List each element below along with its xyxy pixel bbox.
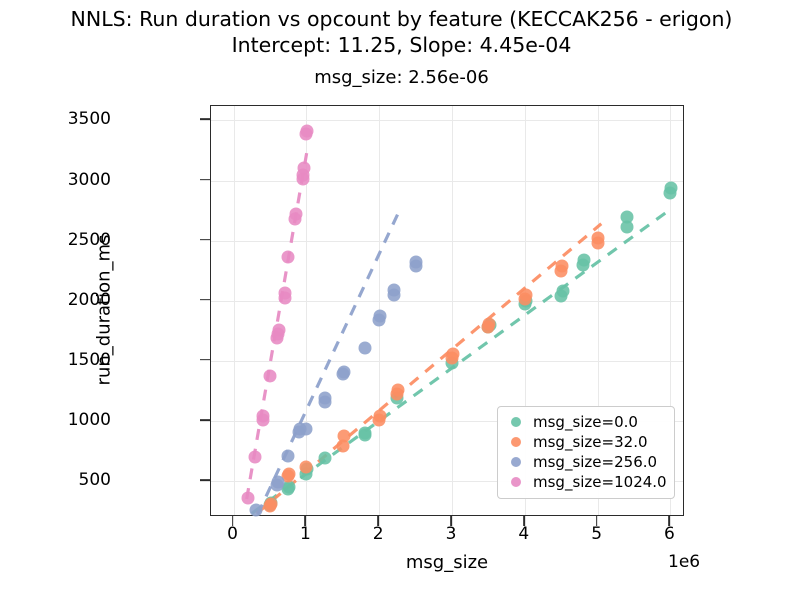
scatter-point <box>483 317 496 330</box>
y-tick-label: 2500 <box>51 230 111 250</box>
x-tick-mark <box>305 516 307 526</box>
y-tick-mark <box>200 359 210 361</box>
scatter-point <box>556 285 569 298</box>
legend-item[interactable]: msg_size=32.0 <box>505 432 667 452</box>
legend-item-label: msg_size=32.0 <box>533 433 648 451</box>
scatter-point <box>592 232 605 245</box>
scatter-point <box>257 410 270 423</box>
scatter-point <box>410 256 423 269</box>
scatter-point <box>318 452 331 465</box>
scatter-point <box>300 460 313 473</box>
scatter-point <box>577 253 590 266</box>
scatter-point <box>271 476 284 489</box>
x-tick-label: 1 <box>285 524 325 544</box>
y-tick-mark <box>200 479 210 481</box>
legend-marker-icon <box>511 457 521 467</box>
x-tick-mark <box>377 516 379 526</box>
y-tick-mark <box>200 119 210 121</box>
x-axis-offset-text: 1e6 <box>668 552 700 572</box>
scatter-point <box>392 383 405 396</box>
scatter-point <box>337 430 350 443</box>
y-tick-mark <box>200 419 210 421</box>
scatter-point <box>373 410 386 423</box>
scatter-point <box>282 449 295 462</box>
y-tick-mark <box>200 299 210 301</box>
y-tick-label: 2000 <box>51 290 111 310</box>
legend-item-label: msg_size=1024.0 <box>533 473 667 491</box>
scatter-point <box>359 426 372 439</box>
x-tick-label: 4 <box>504 524 544 544</box>
scatter-point <box>388 283 401 296</box>
scatter-point <box>282 251 295 264</box>
scatter-point <box>301 125 314 138</box>
legend-item[interactable]: msg_size=1024.0 <box>505 472 667 492</box>
y-tick-label: 1000 <box>51 410 111 430</box>
title-block: NNLS: Run duration vs opcount by feature… <box>0 6 803 90</box>
scatter-point <box>249 450 262 463</box>
chart-title-line1: NNLS: Run duration vs opcount by feature… <box>0 6 803 32</box>
chart-title-line3: msg_size: 2.56e-06 <box>0 66 803 90</box>
y-tick-label: 3500 <box>51 109 111 129</box>
scatter-point <box>519 288 532 301</box>
scatter-point <box>337 365 350 378</box>
y-axis-label-wrap: run_duration_ms <box>148 0 149 592</box>
y-tick-mark <box>200 179 210 181</box>
scatter-point <box>272 323 285 336</box>
scatter-point <box>298 162 311 175</box>
scatter-point <box>279 287 292 300</box>
chart-title-line2: Intercept: 11.25, Slope: 4.45e-04 <box>0 32 803 58</box>
y-tick-label: 3000 <box>51 170 111 190</box>
figure-canvas: NNLS: Run duration vs opcount by feature… <box>0 0 803 592</box>
x-tick-mark <box>523 516 525 526</box>
y-tick-mark <box>200 239 210 241</box>
scatter-point <box>263 370 276 383</box>
x-tick-label: 2 <box>358 524 398 544</box>
scatter-point <box>242 491 255 504</box>
scatter-point <box>373 310 386 323</box>
legend-marker-icon <box>511 417 521 427</box>
scatter-point <box>446 347 459 360</box>
scatter-point <box>319 392 332 405</box>
y-tick-label: 1500 <box>51 350 111 370</box>
legend-item-label: msg_size=0.0 <box>533 413 638 431</box>
legend-item[interactable]: msg_size=0.0 <box>505 412 667 432</box>
scatter-point <box>621 210 634 223</box>
x-tick-mark <box>596 516 598 526</box>
x-axis-label: msg_size <box>210 552 684 573</box>
legend-item[interactable]: msg_size=256.0 <box>505 452 667 472</box>
scatter-point <box>300 423 313 436</box>
scatter-point <box>282 467 295 480</box>
x-tick-label: 6 <box>649 524 689 544</box>
x-tick-label: 0 <box>213 524 253 544</box>
x-tick-mark <box>450 516 452 526</box>
x-tick-mark <box>669 516 671 526</box>
legend-item-label: msg_size=256.0 <box>533 453 657 471</box>
scatter-point <box>290 208 303 221</box>
scatter-point <box>555 259 568 272</box>
y-tick-label: 500 <box>51 470 111 490</box>
x-tick-mark <box>232 516 234 526</box>
legend-marker-icon <box>511 477 521 487</box>
x-tick-label: 5 <box>577 524 617 544</box>
legend-marker-icon <box>511 437 521 447</box>
scatter-point <box>358 341 371 354</box>
x-tick-label: 3 <box>431 524 471 544</box>
scatter-point <box>250 503 263 516</box>
legend[interactable]: msg_size=0.0msg_size=32.0msg_size=256.0m… <box>497 406 675 499</box>
scatter-point <box>665 181 678 194</box>
scatter-point <box>264 497 277 510</box>
